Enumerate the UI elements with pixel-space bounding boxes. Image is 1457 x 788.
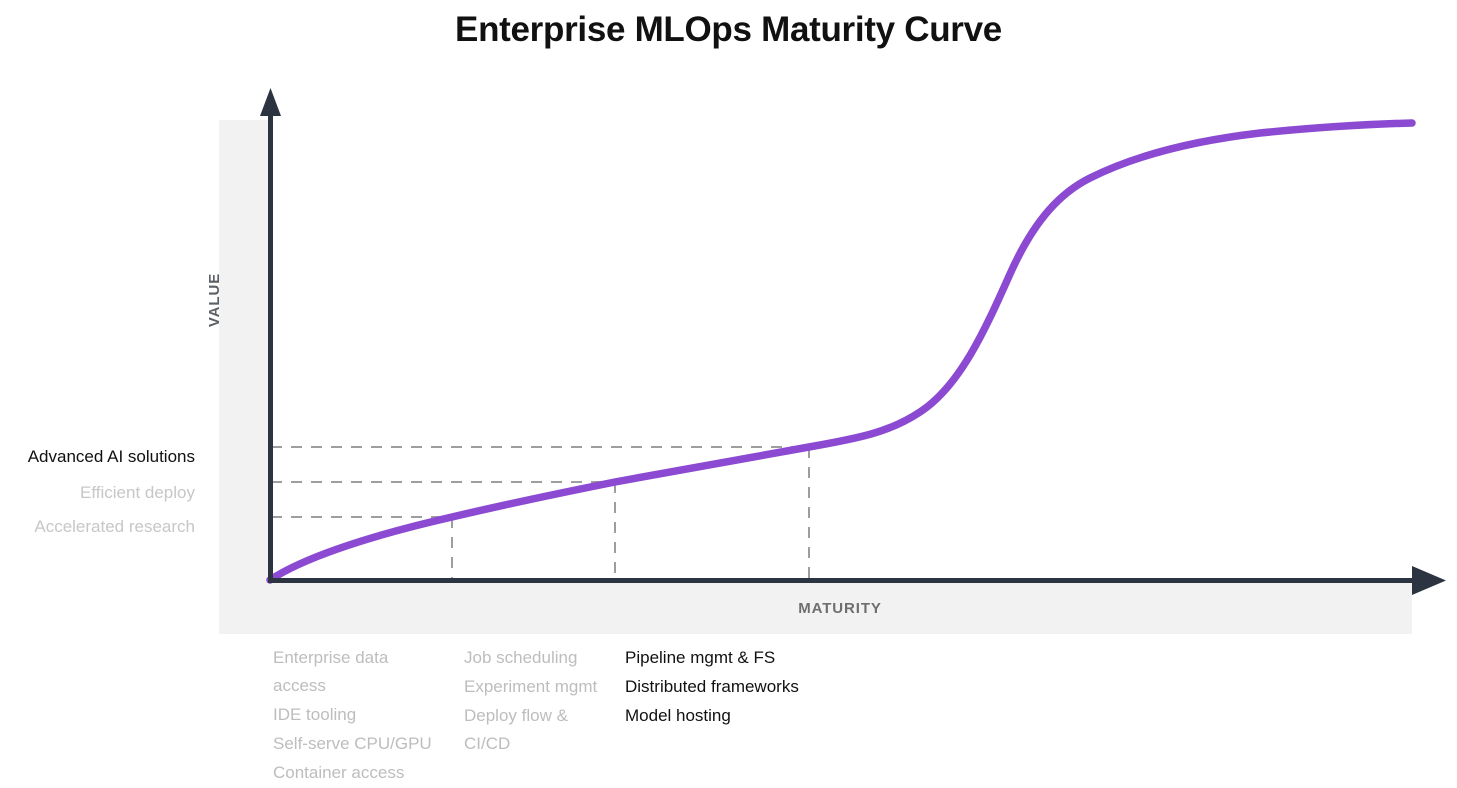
value-level-label-advanced-ai-solutions: Advanced AI solutions [0,447,195,467]
vertical-gridlines [452,447,809,580]
capability-item: Pipeline mgmt & FS [625,644,800,672]
y-axis-arrowhead [260,88,281,116]
horizontal-gridlines [271,447,809,517]
x-axis [268,566,1446,595]
capability-item: IDE tooling [273,701,443,729]
capability-item: Container access [273,759,443,787]
value-level-label-accelerated-research: Accelerated research [0,517,195,537]
x-axis-title: MATURITY [270,600,1410,617]
capability-item: Deploy flow & CI/CD [464,702,614,758]
capability-item: Experiment mgmt [464,673,614,701]
maturity-curve-line [270,123,1412,580]
x-axis-arrowhead [1412,566,1446,595]
capability-column-2: Job scheduling Experiment mgmt Deploy fl… [464,644,614,759]
capability-item: Model hosting [625,702,800,730]
capability-item: Self-serve CPU/GPU [273,730,443,758]
y-axis-title: VALUE [206,240,223,360]
capability-item: Job scheduling [464,644,614,672]
capability-column-1: Enterprise data access IDE tooling Self-… [273,644,443,788]
capability-columns: Enterprise data access IDE tooling Self-… [0,644,1457,777]
capability-column-3: Pipeline mgmt & FS Distributed framework… [625,644,800,731]
capability-item: Distributed frameworks [625,673,800,701]
capability-item: Enterprise data access [273,644,443,700]
y-axis [260,88,281,580]
value-level-label-efficient-deploy: Efficient deploy [0,483,195,503]
